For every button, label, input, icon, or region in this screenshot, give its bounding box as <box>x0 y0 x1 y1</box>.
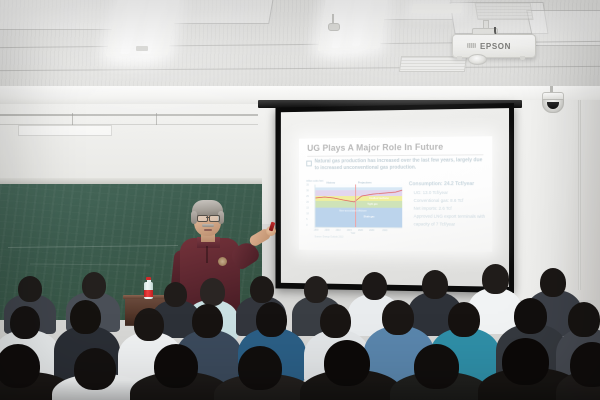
right-column-heading: Consumption: 24.2 Tcf/year <box>409 181 486 189</box>
y-tick: 25 <box>306 195 308 198</box>
bottle-label <box>144 290 153 297</box>
projector-foot <box>457 56 462 60</box>
y-tick: 10 <box>306 212 308 215</box>
audience-member <box>164 282 187 307</box>
wall-rail-post <box>72 113 73 125</box>
projector-lens <box>468 54 487 65</box>
projector: EPSON <box>452 34 536 58</box>
total-production-trend-line <box>315 184 402 227</box>
audience-member <box>362 272 387 300</box>
annotation-projections: Projections <box>358 181 372 184</box>
audience-member <box>514 298 547 334</box>
audience-member <box>320 304 351 338</box>
wall-panel <box>18 125 112 136</box>
audience-member <box>422 270 448 299</box>
chart-source-note: Source: Energy Outlook 2013 <box>315 235 344 238</box>
fluorescent-tube <box>411 4 462 13</box>
y-tick: 35 <box>306 184 308 187</box>
right-column-item: Approved LNG export terminals with capac… <box>409 213 486 229</box>
right-column-item: UG: 13.0 Tcf/year <box>409 189 486 197</box>
audience-member <box>18 276 42 302</box>
slide-title-rule <box>307 154 483 157</box>
band-label-shale: Shale gas <box>364 215 375 218</box>
slide-content: UG Plays A Major Role In Future Natural … <box>299 136 492 251</box>
projector-brand-label: EPSON <box>480 42 511 51</box>
sprinkler-head <box>328 23 340 31</box>
audience-member <box>192 304 223 338</box>
chart-plot-area: Shale gas Tight gas Coalbed methane Non-… <box>315 184 403 228</box>
slide-chart: trillion cubic feet 35 30 25 20 15 10 5 … <box>306 180 404 239</box>
annotation-history: History <box>326 182 335 185</box>
audience-member <box>382 300 414 335</box>
slide-bullet: Natural gas production has increased ove… <box>306 157 486 173</box>
projector-vent-icon <box>467 43 476 48</box>
audience-member <box>134 308 164 341</box>
y-tick: 20 <box>306 201 308 204</box>
x-tick: 2040 <box>382 229 387 232</box>
wall-conduit <box>578 100 581 290</box>
y-tick: 30 <box>306 189 308 192</box>
screen-surface: UG Plays A Major Role In Future Natural … <box>281 108 509 287</box>
audience-member <box>82 272 106 299</box>
foreground-shadow <box>0 380 600 400</box>
presenter-mouth <box>204 229 212 231</box>
x-tick: 2000 <box>325 229 330 232</box>
audience-member <box>250 276 274 303</box>
audience-member <box>568 302 600 337</box>
audience-member <box>304 276 328 303</box>
band-label-tight: Tight gas <box>367 203 377 206</box>
slide-right-column: Consumption: 24.2 Tcf/year UG: 13.0 Tcf/… <box>409 181 486 229</box>
presenter-mustache <box>202 224 214 227</box>
projector-foot <box>520 56 525 60</box>
x-tick: 2030 <box>369 229 374 232</box>
y-tick: 15 <box>306 207 308 210</box>
audience-member <box>256 302 287 337</box>
bullet-square-icon <box>306 161 311 167</box>
audience-member <box>482 264 509 294</box>
ceiling-tile <box>0 0 127 30</box>
x-tick: 2020 <box>358 229 363 232</box>
y-tick: 0 <box>306 224 307 227</box>
projection-screen: UG Plays A Major Role In Future Natural … <box>275 103 514 293</box>
camera-lens <box>547 102 559 109</box>
eyeglasses-bridge <box>206 217 210 218</box>
audience-member <box>70 300 101 334</box>
water-bottle <box>144 277 153 299</box>
y-tick: 5 <box>306 218 307 221</box>
slide-title: UG Plays A Major Role In Future <box>307 142 443 153</box>
presenter-placket <box>206 246 208 263</box>
audience-member <box>10 306 40 339</box>
history-projection-divider <box>355 184 356 227</box>
slide-bullet-text: Natural gas production has increased ove… <box>315 157 487 173</box>
right-column-item: Conventional gas: 8.6 Tcf <box>409 197 486 205</box>
band-label-offshore: Non-associated offshore <box>339 210 366 213</box>
audience-member <box>200 278 225 306</box>
audience-member <box>540 268 566 297</box>
x-tick: 1990 <box>314 229 319 232</box>
x-tick: 2010 <box>336 229 341 232</box>
eyeglasses-icon <box>209 215 220 222</box>
audience-member <box>448 302 480 337</box>
ceiling-vent <box>474 2 533 20</box>
chart-unit-label: trillion cubic feet <box>306 180 323 183</box>
chart-x-axis-label: Year <box>351 232 356 235</box>
wall-rail <box>0 114 258 116</box>
presenter-shirt-logo <box>218 257 227 266</box>
wall-rail-post <box>156 113 157 125</box>
lecture-hall-photo: EPSON UG Plays A Major Role In Future <box>0 0 600 400</box>
audience-member <box>502 338 549 385</box>
right-column-item: Net imports: 2.6 Tcf <box>409 205 486 213</box>
fixture-bracket <box>136 46 148 51</box>
band-label-coalbed: Coalbed methane <box>369 197 389 200</box>
